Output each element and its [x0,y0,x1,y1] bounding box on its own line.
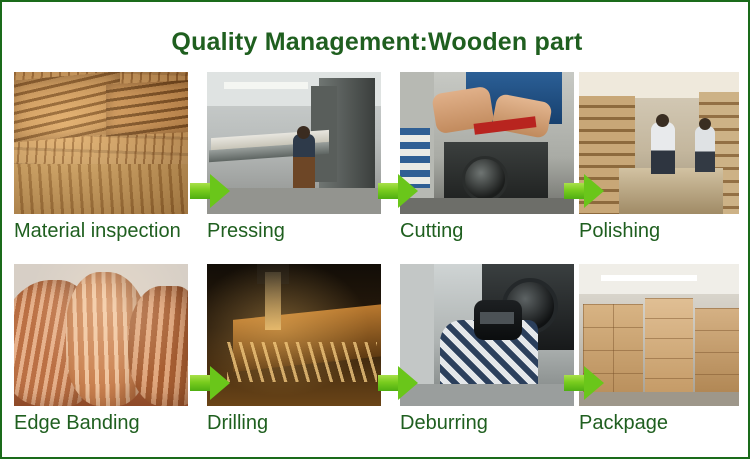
step-label-packpage: Packpage [579,408,750,438]
pressing-photo [207,72,381,214]
right-arrow-icon [564,366,604,400]
process-row-2: Edge Banding Drilling [2,264,750,444]
deburring-photo [400,264,574,406]
step-label-pressing: Pressing [207,216,397,246]
process-step-deburring: Deburring [400,264,574,444]
process-row-1: Material inspection Pressing [2,72,750,252]
process-step-packpage: Packpage [579,264,750,444]
process-step-polishing: Polishing [579,72,750,252]
right-arrow-icon [190,174,230,208]
process-step-pressing: Pressing [207,72,381,252]
step-label-deburring: Deburring [400,408,590,438]
drilling-photo [207,264,381,406]
edge-banding-photo [14,264,188,406]
step-label-cutting: Cutting [400,216,590,246]
step-label-drilling: Drilling [207,408,397,438]
page-title: Quality Management:Wooden part [2,28,750,57]
right-arrow-icon [190,366,230,400]
step-label-material-inspection: Material inspection [14,216,204,246]
right-arrow-icon [378,366,418,400]
process-step-material-inspection: Material inspection [14,72,188,252]
right-arrow-icon [378,174,418,208]
process-step-edge-banding: Edge Banding [14,264,188,444]
step-label-polishing: Polishing [579,216,750,246]
material-inspection-photo [14,72,188,214]
process-flow-infographic: Quality Management:Wooden part Material … [0,0,750,459]
process-step-drilling: Drilling [207,264,381,444]
step-label-edge-banding: Edge Banding [14,408,204,438]
right-arrow-icon [564,174,604,208]
process-step-cutting: Cutting [400,72,574,252]
cutting-photo [400,72,574,214]
